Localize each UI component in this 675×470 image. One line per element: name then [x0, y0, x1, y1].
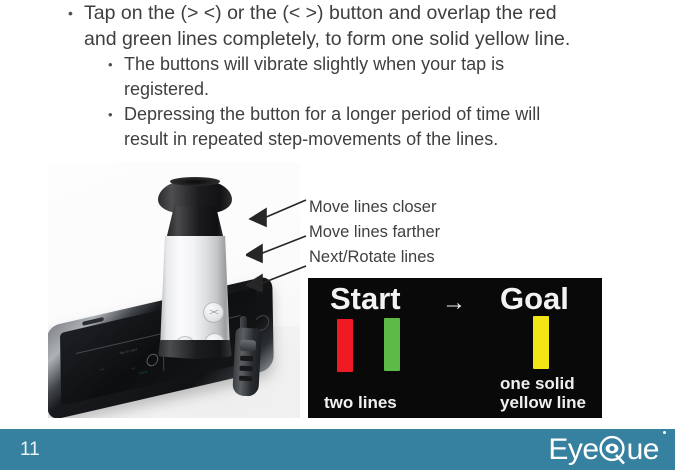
- goal-caption: one solid yellow line: [500, 374, 586, 412]
- arrow-line-3: [260, 266, 306, 284]
- callout-label-next-rotate: Next/Rotate lines: [309, 245, 519, 270]
- move-closer-button: ><: [203, 302, 224, 323]
- logo-text-ue: ue: [627, 433, 659, 466]
- phone-clip: [232, 327, 262, 396]
- goal-caption-line-1: one solid: [500, 374, 586, 393]
- visioncheck-scope: >< <> •: [156, 180, 234, 356]
- bullet-text: Depressing the button for a longer perio…: [124, 102, 589, 152]
- green-line-bar: [384, 318, 400, 371]
- goal-caption-line-2: yellow line: [500, 393, 586, 412]
- callout-label-move-farther: Move lines farther: [309, 220, 519, 245]
- yellow-line-bar: [533, 316, 549, 369]
- red-line-bar: [337, 319, 353, 372]
- phone-ui-label: ><: [100, 367, 104, 372]
- list-item: • The buttons will vibrate slightly when…: [0, 52, 675, 102]
- arrow-head-1: [250, 209, 266, 226]
- page-number: 11: [20, 438, 40, 462]
- start-caption: two lines: [324, 393, 397, 412]
- logo-wordmark: Eyeue: [548, 433, 659, 467]
- logo-text-eye: Eye: [548, 433, 598, 466]
- bullet-marker-icon: •: [108, 52, 124, 78]
- callout-arrows: [246, 196, 308, 292]
- arrow-head-3: [246, 275, 262, 292]
- list-item: • Depressing the button for a longer per…: [0, 102, 675, 152]
- registered-mark-icon: [663, 431, 666, 434]
- arrow-line-2: [260, 236, 306, 254]
- scope-barrel: >< <> •: [160, 236, 230, 348]
- logo-q-eye-icon: [599, 435, 627, 465]
- clip-thumb-grip: [240, 340, 257, 352]
- bullet-list: • Tap on the (> <) or the (< >) button a…: [0, 0, 675, 152]
- arrow-line-1: [264, 200, 306, 218]
- callout-label-group: Move lines closer Move lines farther Nex…: [309, 195, 519, 270]
- callout-label-move-closer: Move lines closer: [309, 195, 519, 220]
- phone-ui-label: <>: [131, 366, 135, 371]
- bullet-text: The buttons will vibrate slightly when y…: [124, 52, 589, 102]
- bullet-marker-icon: •: [68, 0, 84, 26]
- bullet-marker-icon: •: [108, 102, 124, 128]
- scope-base: [158, 340, 232, 359]
- slide-footer: 11 Eyeue: [0, 429, 675, 470]
- start-label: Start: [330, 280, 401, 318]
- bullet-text: Tap on the (> <) or the (< >) button and…: [84, 0, 592, 52]
- eyeque-logo: Eyeue: [548, 432, 659, 468]
- scope-neck: [166, 206, 224, 240]
- arrow-head-2: [246, 245, 262, 262]
- phone-ui-label: Done: [139, 370, 147, 376]
- start-goal-diagram: Start → Goal two lines one solid yellow …: [308, 278, 602, 418]
- goal-label: Goal: [500, 280, 569, 318]
- list-item: • Tap on the (> <) or the (< >) button a…: [0, 0, 675, 52]
- phone-ui-label: Tap to start: [119, 347, 137, 355]
- transition-arrow-icon: →: [442, 284, 466, 322]
